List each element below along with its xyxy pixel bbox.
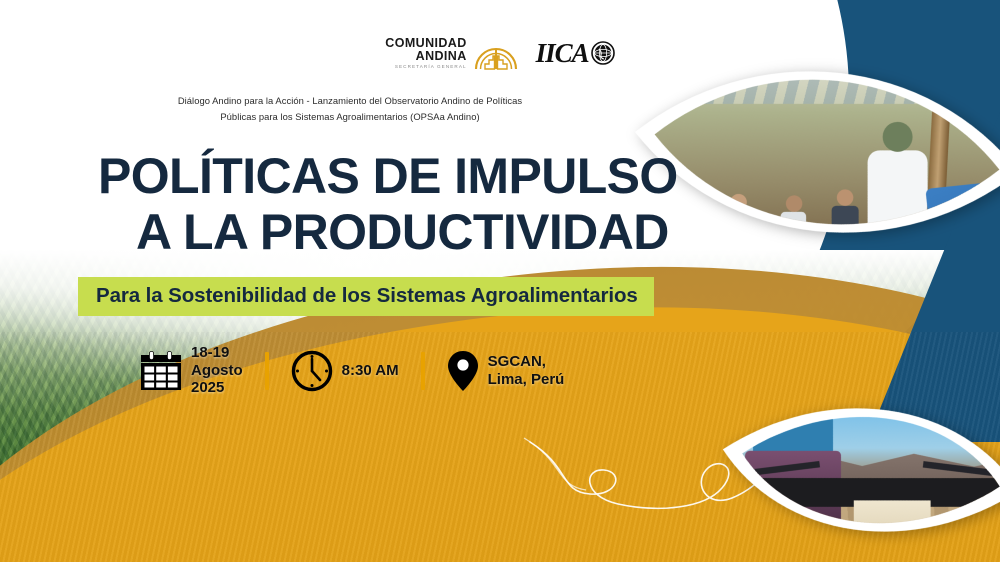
detail-date-text: 18-19 Agosto 2025 <box>191 344 243 397</box>
event-poster: COMUNIDAD ANDINA SECRETARÍA GENERAL IICA <box>0 0 1000 562</box>
location-pin-icon <box>447 350 479 392</box>
title-line-2: A LA PRODUCTIVIDAD <box>136 208 678 257</box>
page-title: POLÍTICAS DE IMPULSO A LA PRODUCTIVIDAD <box>98 152 678 257</box>
poster-content: COMUNIDAD ANDINA SECRETARÍA GENERAL IICA <box>0 0 1000 562</box>
comunidad-andina-wordmark: COMUNIDAD ANDINA SECRETARÍA GENERAL <box>385 37 466 70</box>
detail-date: 18-19 Agosto 2025 <box>140 344 243 397</box>
detail-time: 8:30 AM <box>291 350 399 392</box>
andean-arch-mark-icon <box>474 37 518 70</box>
event-subtitle: Diálogo Andino para la Acción - Lanzamie… <box>0 93 700 125</box>
can-line2: ANDINA <box>385 50 466 63</box>
iica-logo: IICA <box>536 38 615 69</box>
detail-date-line3: 2025 <box>191 379 243 397</box>
comunidad-andina-logo: COMUNIDAD ANDINA SECRETARÍA GENERAL <box>385 37 517 70</box>
event-subtitle-line2: Públicas para los Sistemas Agroalimentar… <box>0 109 700 125</box>
tagline-banner: Para la Sostenibilidad de los Sistemas A… <box>78 277 654 316</box>
detail-place-line2: Lima, Perú <box>488 371 565 389</box>
event-details-bar: 18-19 Agosto 2025 8:30 AM <box>140 344 564 397</box>
iica-wordmark: IICA <box>536 38 589 69</box>
title-line-1: POLÍTICAS DE IMPULSO <box>98 148 678 204</box>
detail-date-line2: Agosto <box>191 362 243 380</box>
tagline-text: Para la Sostenibilidad de los Sistemas A… <box>96 284 638 307</box>
can-subtitle: SECRETARÍA GENERAL <box>385 65 466 70</box>
clock-icon <box>291 350 333 392</box>
detail-place-text: SGCAN, Lima, Perú <box>488 353 565 388</box>
globe-mark-icon <box>591 41 615 65</box>
logo-row: COMUNIDAD ANDINA SECRETARÍA GENERAL IICA <box>0 37 1000 70</box>
event-subtitle-line1: Diálogo Andino para la Acción - Lanzamie… <box>0 93 700 109</box>
detail-time-text: 8:30 AM <box>342 362 399 380</box>
detail-divider-2 <box>421 352 425 390</box>
detail-place-line1: SGCAN, <box>488 353 565 371</box>
calendar-icon <box>140 351 182 391</box>
detail-place: SGCAN, Lima, Perú <box>447 350 565 392</box>
detail-date-line1: 18-19 <box>191 344 243 362</box>
can-line1: COMUNIDAD <box>385 37 466 50</box>
detail-divider-1 <box>265 352 269 390</box>
